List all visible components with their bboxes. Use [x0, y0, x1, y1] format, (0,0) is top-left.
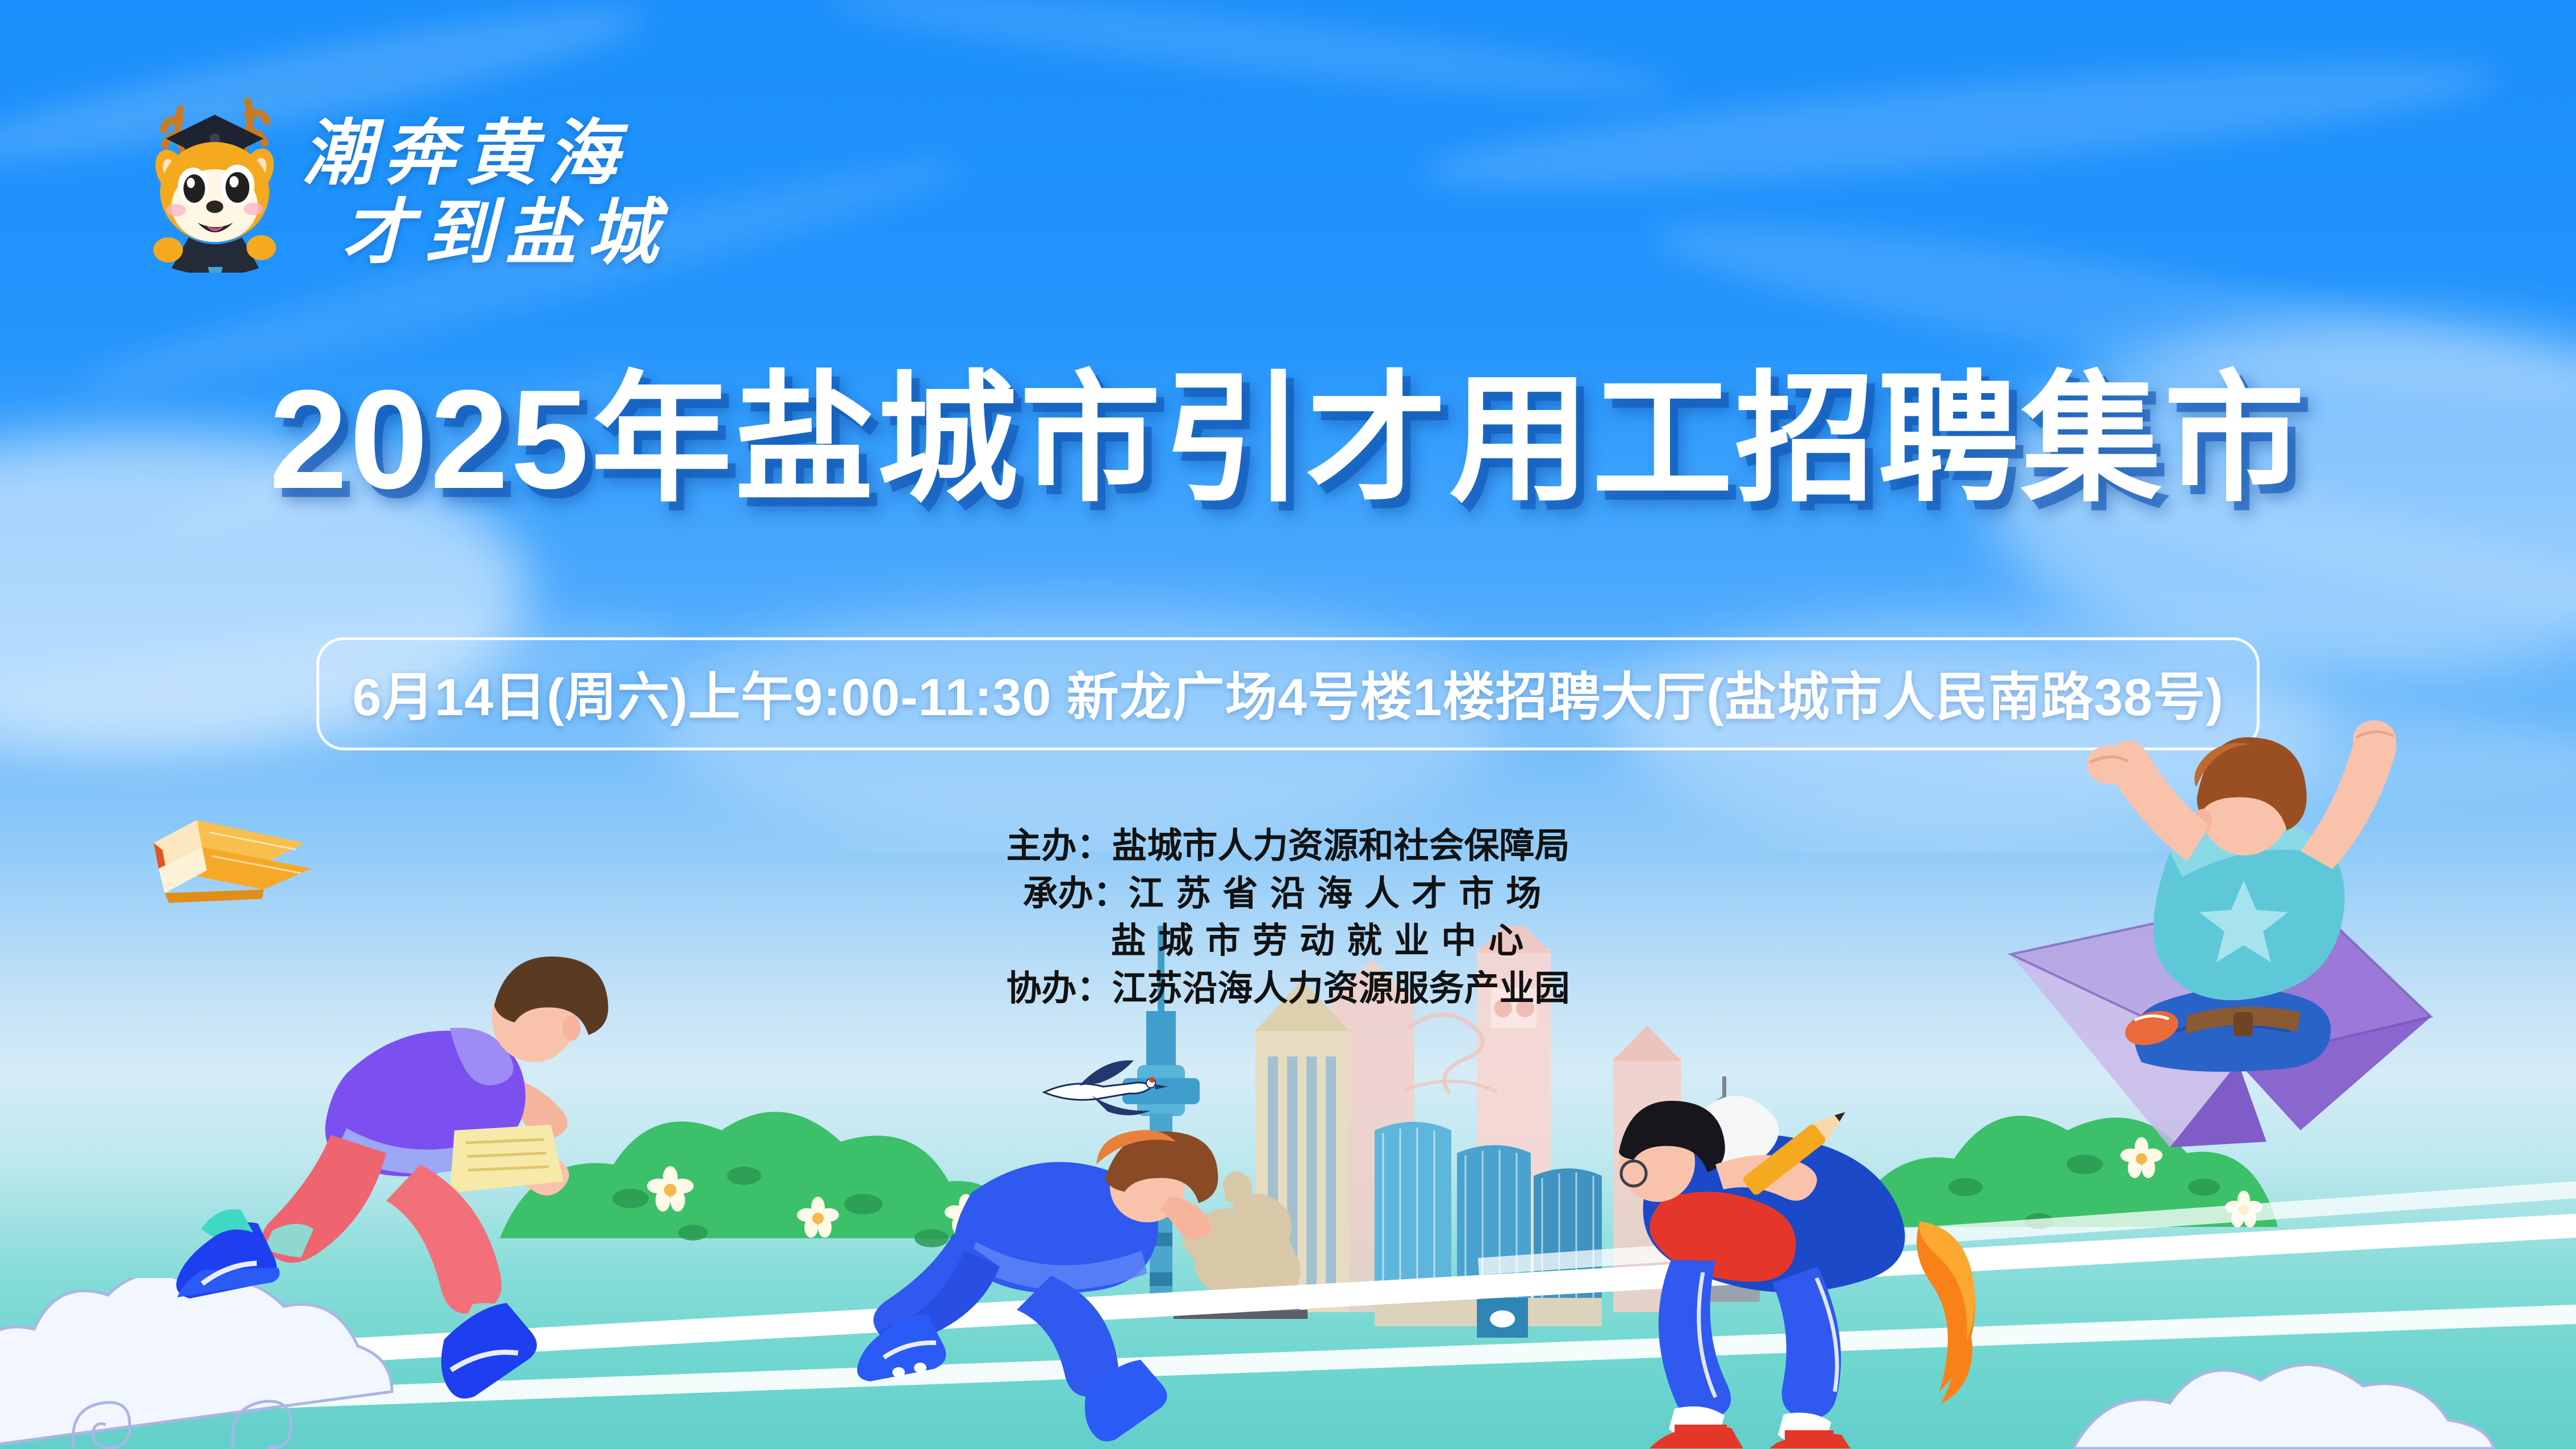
organizer-value: 盐城市劳动就业中心: [1111, 921, 1536, 961]
organizer-line-undertaker: 承办：江苏省沿海人才市场: [1023, 870, 1554, 918]
running-student-blue: [829, 1096, 1272, 1448]
organizer-line-undertaker-2: 盐城市劳动就业中心: [1041, 917, 1536, 965]
student-on-paper-plane: [1999, 699, 2576, 1267]
organizer-label: 主办：: [1006, 826, 1112, 866]
auspicious-cloud-swirl: [2073, 1301, 2576, 1449]
organizer-value: 江苏省沿海人才市场: [1129, 874, 1554, 913]
poster-root: 潮奔黄海 才到盐城 2025年盐城市引才用工招聘集市 6月14日(周六)上午9:…: [0, 0, 2576, 1449]
brand-logo: 潮奔黄海 才到盐城: [132, 80, 813, 278]
organizer-line-host: 主办：盐城市人力资源和社会保障局: [1006, 822, 1569, 870]
running-student-with-resume: [102, 886, 704, 1448]
logo-slogan-line2: 才到盐城: [342, 175, 669, 278]
organizer-line-co-host: 协办：江苏沿海人力资源服务产业园: [1006, 965, 1569, 1013]
yancheng-elk-mascot-icon: [132, 80, 302, 273]
organizer-label: 承办：: [1023, 874, 1129, 913]
event-date-venue-banner: 6月14日(周六)上午9:00-11:30 新龙广场4号楼1楼招聘大厅(盐城市人…: [316, 637, 2260, 750]
organizer-label: 协办：: [1006, 969, 1112, 1008]
organizer-value: 江苏沿海人力资源服务产业园: [1112, 969, 1570, 1008]
organizer-value: 盐城市人力资源和社会保障局: [1112, 826, 1570, 866]
page-title: 2025年盐城市引才用工招聘集市: [0, 364, 2576, 516]
cloud-wisp: [823, 0, 1676, 115]
